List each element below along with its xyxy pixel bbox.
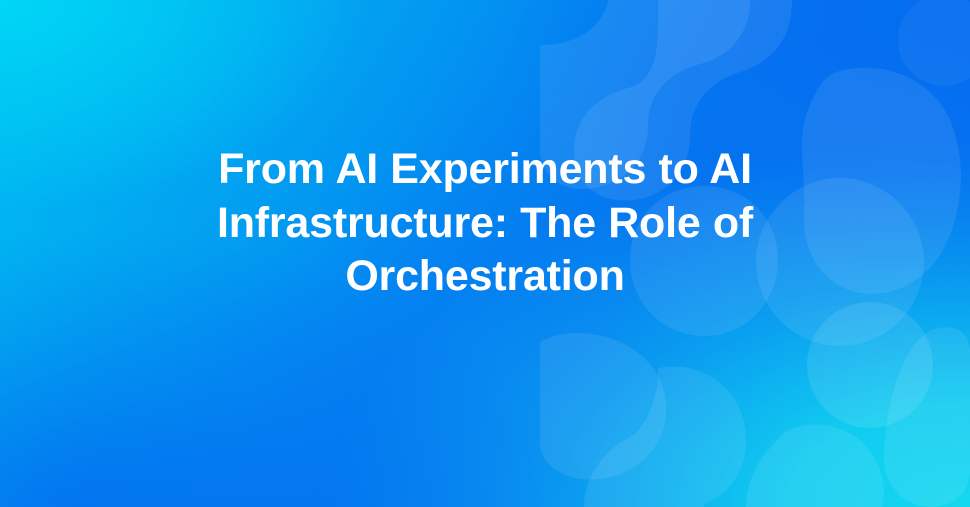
title-container: From AI Experiments to AI Infrastructure… — [0, 0, 970, 507]
page-title: From AI Experiments to AI Infrastructure… — [175, 143, 795, 304]
hero-banner: From AI Experiments to AI Infrastructure… — [0, 0, 970, 507]
